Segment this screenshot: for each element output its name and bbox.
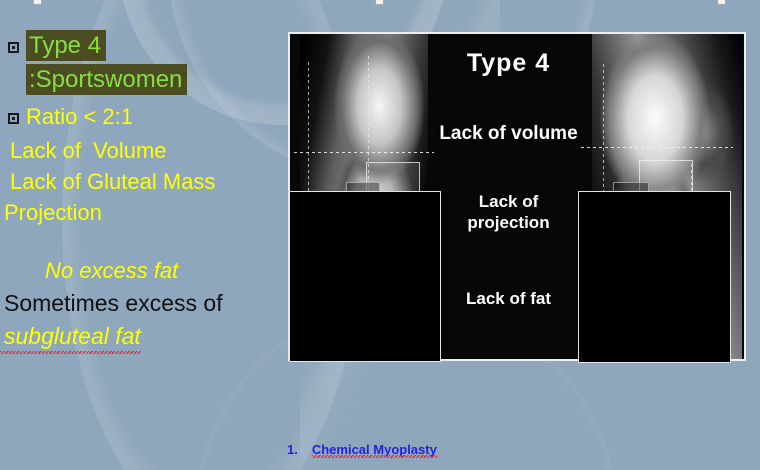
bullet-item-ratio: Ratio < 2:1 [0,101,285,133]
text-line-projection: Projection [0,197,285,228]
redaction-box-left[interactable] [289,191,441,362]
footer-list-item[interactable]: 1. Chemical Myoplasty [287,442,437,457]
text-line-lack-of-gluteal-mass: Lack of Gluteal Mass [0,166,285,197]
selection-handle-left[interactable] [33,0,42,5]
text-line-subgluteal-fat-wrap: subgluteal fat [0,320,285,353]
bullet-label-ratio: Ratio < 2:1 [26,101,133,132]
caption-title: Type 4 [438,49,579,78]
caption-lack-of-volume: Lack of volume [438,123,579,145]
selection-handle-right[interactable] [717,0,726,5]
redaction-box-right[interactable] [578,191,731,363]
text-line-no-excess-fat: No excess fat [0,254,285,287]
square-bullet-icon [0,30,26,62]
caption-projection: projection [438,212,579,233]
caption-lack-of: Lack of [438,191,579,212]
image-caption-column: Type 4 Lack of volume Lack of projection… [438,34,579,359]
footer-list-text: Chemical Myoplasty [312,442,437,457]
text-line-subgluteal-fat: subgluteal fat [0,320,141,353]
presentation-slide: Type 4 :Sportswomen Ratio < 2:1 Lack of … [0,0,760,470]
selection-handle-center[interactable] [375,0,384,5]
bullet-item-type4: Type 4 [0,30,285,62]
slide-text-body[interactable]: Type 4 :Sportswomen Ratio < 2:1 Lack of … [0,30,285,353]
text-line-lack-of-volume: Lack of Volume [0,135,285,166]
footer-list-number: 1. [287,442,298,457]
bullet-sublabel-row: :Sportswomen [0,64,285,95]
caption-lack-of-fat: Lack of fat [438,289,579,309]
bullet-label-sportswomen: :Sportswomen [26,64,187,95]
text-spacer [0,228,285,254]
bullet-label-type4: Type 4 [26,30,106,61]
text-line-sometimes-excess-of: Sometimes excess of [0,287,285,320]
square-bullet-icon-2 [0,101,26,133]
